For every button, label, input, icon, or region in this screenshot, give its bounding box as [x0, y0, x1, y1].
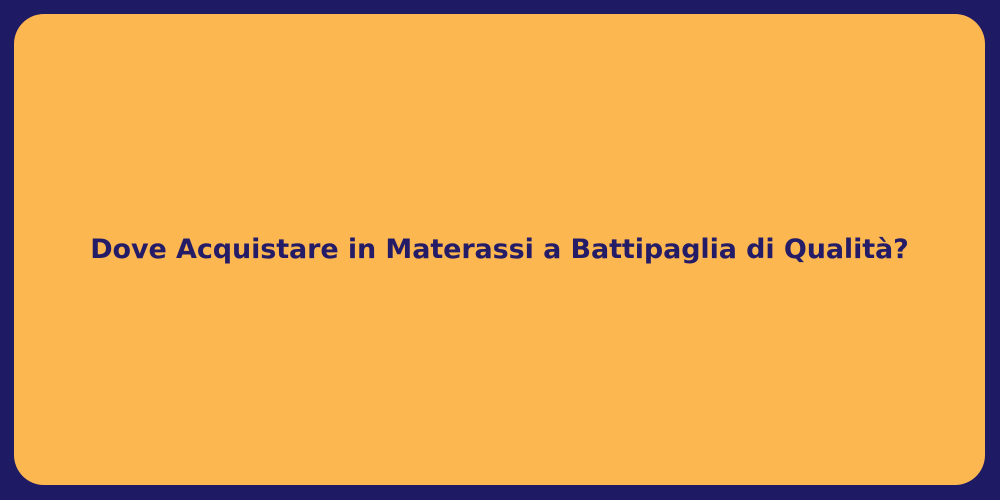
page-title: Dove Acquistare in Materassi a Battipagl…: [60, 232, 938, 267]
banner-frame: Dove Acquistare in Materassi a Battipagl…: [0, 0, 1000, 500]
banner-card: Dove Acquistare in Materassi a Battipagl…: [14, 14, 985, 485]
